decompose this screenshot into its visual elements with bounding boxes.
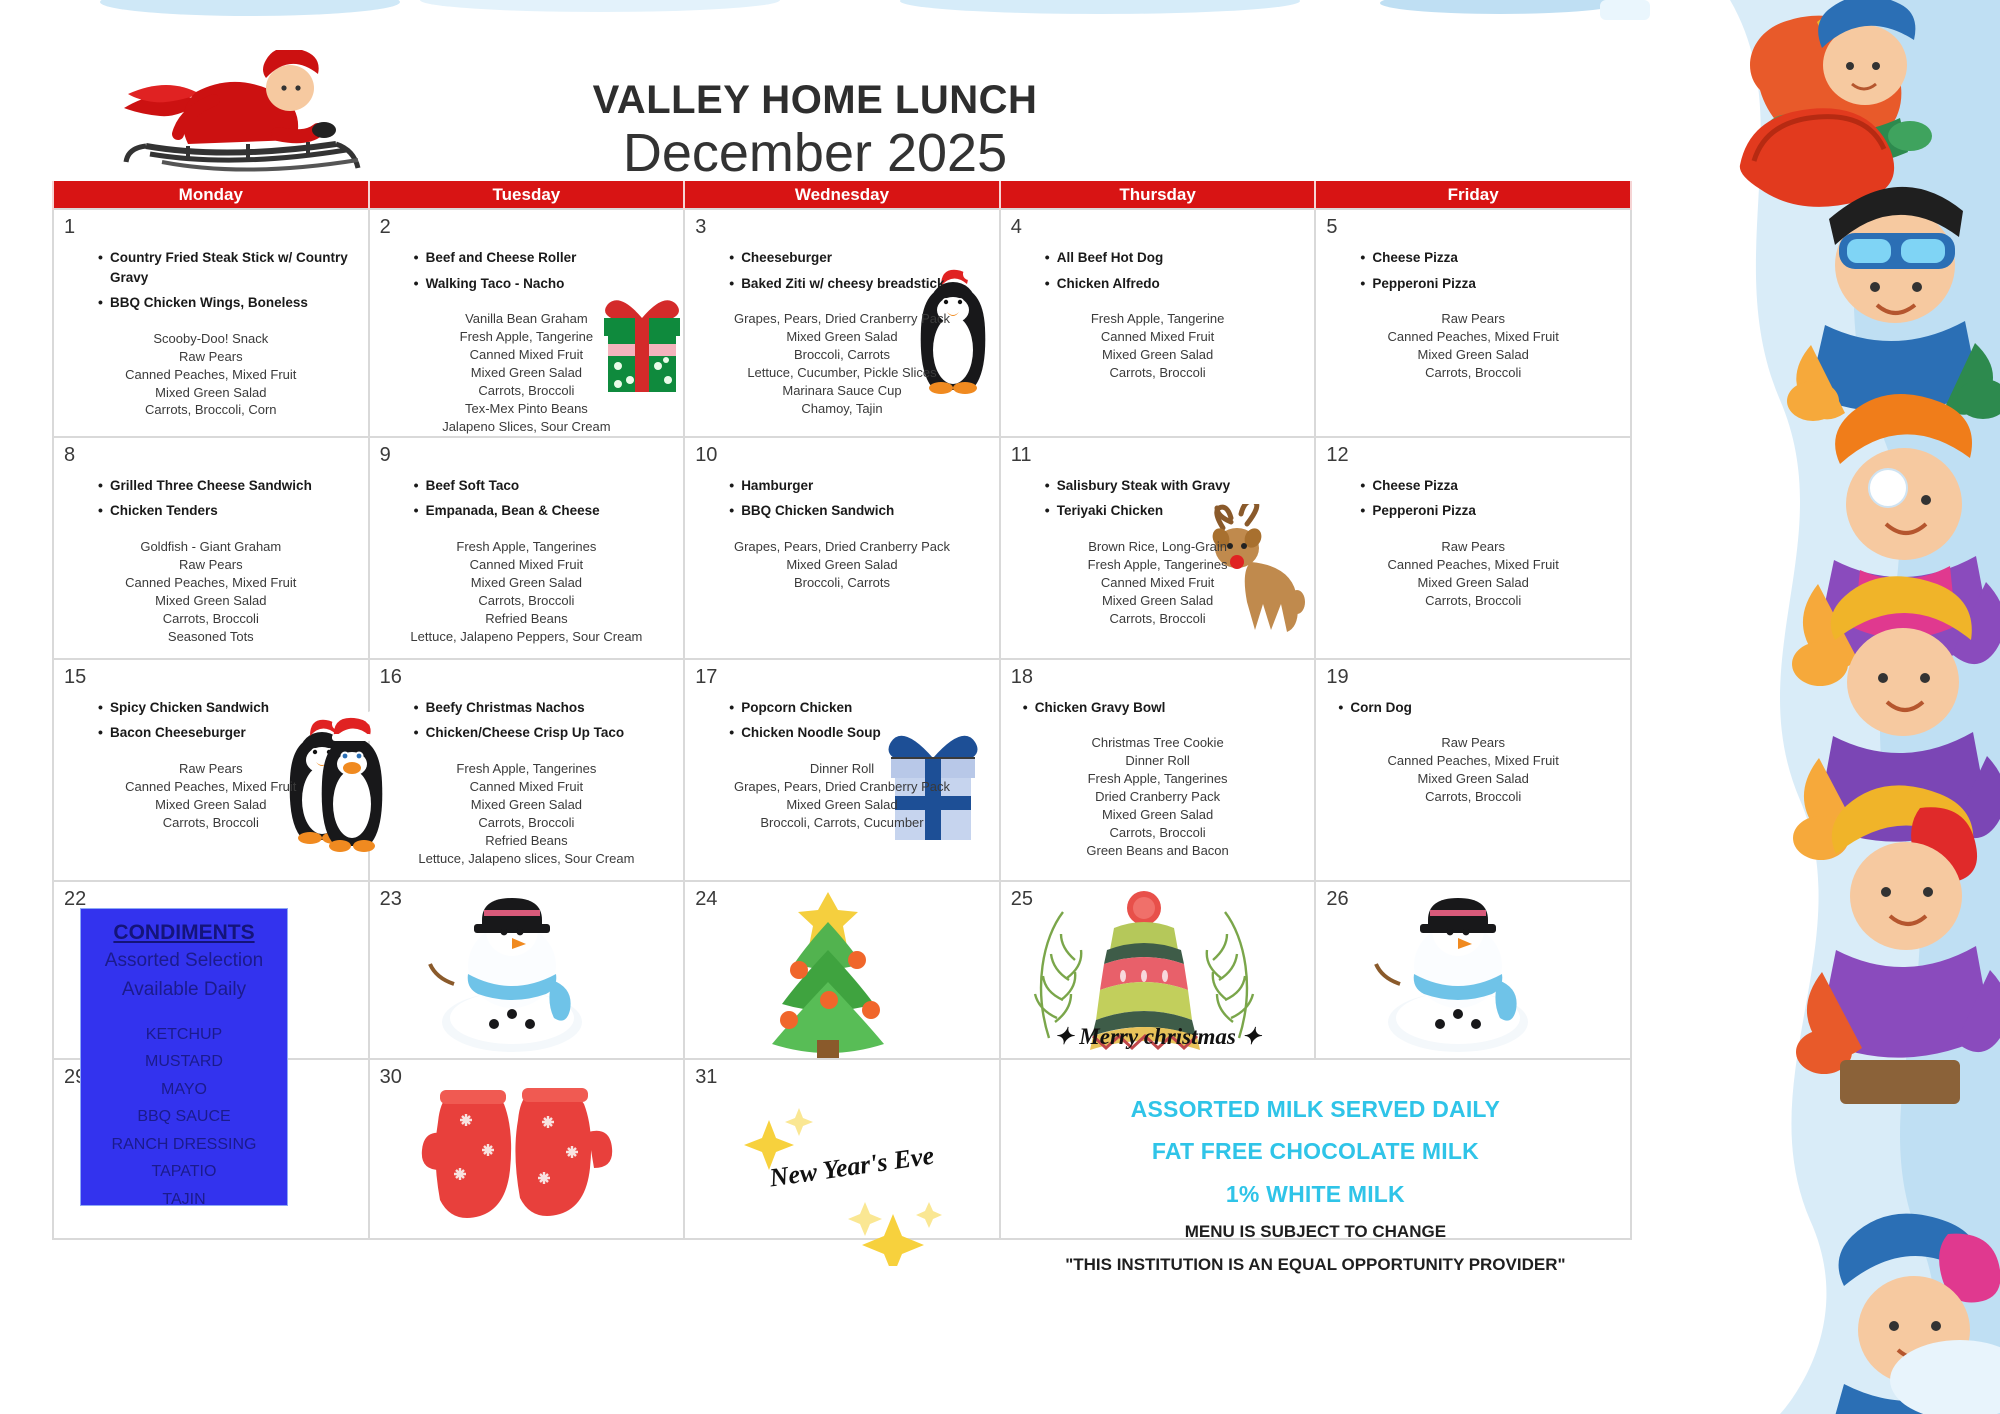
entree-item: Beef Soft Taco — [370, 473, 678, 499]
condiments-box: CONDIMENTS Assorted Selection Available … — [80, 908, 288, 1206]
side-dish-item: Broccoli, Carrots — [693, 574, 991, 592]
entree-item: Cheese Pizza — [1316, 473, 1624, 499]
calendar-day-cell: 11Salisbury Steak with GravyTeriyaki Chi… — [1000, 437, 1316, 659]
entree-list: Country Fried Steak Stick w/ Country Gra… — [54, 245, 368, 316]
side-dish-item: Carrots, Broccoli — [1324, 364, 1622, 382]
entree-list: Popcorn ChickenChicken Noodle Soup — [685, 695, 999, 746]
entree-item: All Beef Hot Dog — [1001, 245, 1309, 271]
page-header: VALLEY HOME LUNCH December 2025 — [0, 30, 1720, 185]
mittens-icon — [416, 1078, 616, 1228]
side-dish-item: Carrots, Broccoli — [1324, 592, 1622, 610]
side-dish-item: Scooby-Doo! Snack — [62, 330, 360, 348]
entree-list: Beef and Cheese RollerWalking Taco - Nac… — [370, 245, 684, 296]
weekday-header-row: Monday Tuesday Wednesday Thursday Friday — [53, 181, 1631, 209]
calendar-day-cell: 12Cheese PizzaPepperoni PizzaRaw PearsCa… — [1315, 437, 1631, 659]
entree-item: Cheese Pizza — [1316, 245, 1624, 271]
calendar-day-cell: 2Beef and Cheese RollerWalking Taco - Na… — [369, 209, 685, 437]
entree-item: Cheeseburger — [685, 245, 993, 271]
entree-item: Chicken/Cheese Crisp Up Taco — [370, 720, 678, 746]
side-dish-item: Carrots, Broccoli, Corn — [62, 401, 360, 419]
side-dish-item: Grapes, Pears, Dried Cranberry Pack — [693, 778, 991, 796]
side-dish-item: Mixed Green Salad — [378, 796, 676, 814]
side-dish-list: Raw PearsCanned Peaches, Mixed FruitMixe… — [1316, 538, 1630, 610]
side-dish-item: Raw Pears — [1324, 734, 1622, 752]
day-number: 18 — [1001, 660, 1315, 689]
side-dish-item: Fresh Apple, Tangerines — [378, 760, 676, 778]
side-dish-list: Raw PearsCanned Peaches, Mixed FruitMixe… — [1316, 310, 1630, 382]
entree-item: Pepperoni Pizza — [1316, 271, 1624, 297]
side-dish-item: Carrots, Broccoli — [1009, 824, 1307, 842]
calendar-day-cell: 24 — [684, 881, 1000, 1059]
side-dish-list: Christmas Tree CookieDinner RollFresh Ap… — [1001, 734, 1315, 860]
condiments-subtitle-1: Assorted Selection — [81, 946, 287, 975]
weekday-header-wednesday: Wednesday — [684, 181, 1000, 209]
side-dish-item: Canned Mixed Fruit — [1009, 328, 1307, 346]
side-dish-item: Canned Peaches, Mixed Fruit — [1324, 752, 1622, 770]
snowman-icon — [412, 896, 612, 1056]
calendar-day-cell: 3CheeseburgerBaked Ziti w/ cheesy breads… — [684, 209, 1000, 437]
side-dish-list: Fresh Apple, TangerinesCanned Mixed Frui… — [370, 538, 684, 646]
side-dish-item: Goldfish - Giant Graham — [62, 538, 360, 556]
entree-item: Empanada, Bean & Cheese — [370, 498, 678, 524]
entree-item: Beef and Cheese Roller — [370, 245, 678, 271]
side-dish-item: Raw Pears — [62, 556, 360, 574]
calendar-day-cell: 18Chicken Gravy BowlChristmas Tree Cooki… — [1000, 659, 1316, 881]
side-dish-item: Mixed Green Salad — [1009, 346, 1307, 364]
side-dish-item: Raw Pears — [1324, 310, 1622, 328]
side-dish-item: Canned Peaches, Mixed Fruit — [62, 366, 360, 384]
side-dish-item: Lettuce, Jalapeno slices, Sour Cream — [378, 850, 676, 868]
condiment-item: BBQ SAUCE — [81, 1103, 287, 1131]
top-snow-decoration — [0, 0, 2000, 30]
weekday-header-tuesday: Tuesday — [369, 181, 685, 209]
calendar-day-cell: 25 ✦ Merry christmas ✦ — [1000, 881, 1316, 1059]
day-number: 23 — [370, 882, 684, 911]
entree-item: Country Fried Steak Stick w/ Country Gra… — [54, 245, 362, 290]
side-dish-item: Fresh Apple, Tangerine — [1009, 310, 1307, 328]
calendar-day-cell: 9Beef Soft TacoEmpanada, Bean & CheeseFr… — [369, 437, 685, 659]
side-dish-item: Mixed Green Salad — [1009, 592, 1307, 610]
entree-item: BBQ Chicken Wings, Boneless — [54, 290, 362, 316]
calendar-day-cell: 5Cheese PizzaPepperoni PizzaRaw PearsCan… — [1315, 209, 1631, 437]
entree-item: Chicken Noodle Soup — [685, 720, 993, 746]
entree-item: Baked Ziti w/ cheesy breadstick — [685, 271, 993, 297]
entree-list: Spicy Chicken SandwichBacon Cheeseburger — [54, 695, 368, 746]
condiments-title: CONDIMENTS — [81, 919, 287, 946]
entree-item: Grilled Three Cheese Sandwich — [54, 473, 362, 499]
day-number: 9 — [370, 438, 684, 467]
day-number: 10 — [685, 438, 999, 467]
side-dish-list: Raw PearsCanned Peaches, Mixed FruitMixe… — [1316, 734, 1630, 806]
entree-list: Cheese PizzaPepperoni Pizza — [1316, 245, 1630, 296]
day-number: 4 — [1001, 210, 1315, 239]
side-dish-item: Carrots, Broccoli — [1009, 364, 1307, 382]
entree-item: Chicken Tenders — [54, 498, 362, 524]
side-dish-item: Mixed Green Salad — [62, 796, 360, 814]
entree-item: Chicken Alfredo — [1001, 271, 1309, 297]
calendar-day-cell: 23 — [369, 881, 685, 1059]
day-number: 11 — [1001, 438, 1315, 467]
side-dish-list: Grapes, Pears, Dried Cranberry PackMixed… — [685, 538, 999, 592]
side-dish-item: Mixed Green Salad — [693, 556, 991, 574]
condiments-subtitle-2: Available Daily — [81, 975, 287, 1004]
lunch-menu-calendar: Monday Tuesday Wednesday Thursday Friday… — [52, 181, 1632, 1240]
side-dish-item: Canned Peaches, Mixed Fruit — [1324, 556, 1622, 574]
entree-item: Walking Taco - Nacho — [370, 271, 678, 297]
entree-item: BBQ Chicken Sandwich — [685, 498, 993, 524]
page-title: VALLEY HOME LUNCH — [0, 78, 1630, 123]
condiment-item: TAPATIO — [81, 1158, 287, 1186]
side-dish-item: Canned Peaches, Mixed Fruit — [62, 778, 360, 796]
condiment-item: MUSTARD — [81, 1048, 287, 1076]
calendar-day-cell: 22 CONDIMENTS Assorted Selection Availab… — [53, 881, 369, 1059]
calendar-day-cell: 10HamburgerBBQ Chicken SandwichGrapes, P… — [684, 437, 1000, 659]
entree-list: Grilled Three Cheese SandwichChicken Ten… — [54, 473, 368, 524]
notice-milk-chocolate: FAT FREE CHOCOLATE MILK — [1001, 1130, 1630, 1173]
day-number: 30 — [370, 1060, 684, 1089]
entree-item: Salisbury Steak with Gravy — [1001, 473, 1309, 499]
entree-item: Spicy Chicken Sandwich — [54, 695, 362, 721]
side-dish-item: Mixed Green Salad — [62, 384, 360, 402]
christmas-tree-icon — [733, 888, 923, 1058]
side-dish-item: Broccoli, Carrots — [693, 346, 991, 364]
side-dish-item: Canned Mixed Fruit — [378, 778, 676, 796]
side-dish-item: Mixed Green Salad — [693, 796, 991, 814]
notice-milk-white: 1% WHITE MILK — [1001, 1173, 1630, 1216]
side-dish-item: Grapes, Pears, Dried Cranberry Pack — [693, 538, 991, 556]
calendar-day-cell: 8Grilled Three Cheese SandwichChicken Te… — [53, 437, 369, 659]
entree-item: Beefy Christmas Nachos — [370, 695, 678, 721]
entree-list: HamburgerBBQ Chicken Sandwich — [685, 473, 999, 524]
side-dish-item: Mixed Green Salad — [378, 364, 676, 382]
side-dish-list: Fresh Apple, TangerinesCanned Mixed Frui… — [370, 760, 684, 868]
side-dish-item: Canned Mixed Fruit — [378, 346, 676, 364]
entree-item: Pepperoni Pizza — [1316, 498, 1624, 524]
side-dish-item: Jalapeno Slices, Sour Cream — [378, 418, 676, 436]
day-number: 25 — [1001, 882, 1315, 911]
snowman-icon — [1358, 896, 1558, 1056]
calendar-day-cell: 26 — [1315, 881, 1631, 1059]
side-dish-list: Raw PearsCanned Peaches, Mixed FruitMixe… — [54, 760, 368, 832]
milk-notice-cell: ASSORTED MILK SERVED DAILY FAT FREE CHOC… — [1000, 1059, 1631, 1239]
entree-list: Beefy Christmas NachosChicken/Cheese Cri… — [370, 695, 684, 746]
calendar-day-cell: 4All Beef Hot DogChicken AlfredoFresh Ap… — [1000, 209, 1316, 437]
side-dish-item: Mixed Green Salad — [1324, 346, 1622, 364]
entree-item: Popcorn Chicken — [685, 695, 993, 721]
side-dish-item: Refried Beans — [378, 610, 676, 628]
side-dish-item: Canned Mixed Fruit — [378, 556, 676, 574]
calendar-day-cell: 19Corn DogRaw PearsCanned Peaches, Mixed… — [1315, 659, 1631, 881]
condiments-item-list: KETCHUPMUSTARDMAYOBBQ SAUCERANCH DRESSIN… — [81, 1021, 287, 1214]
condiment-item: RANCH DRESSING — [81, 1131, 287, 1159]
day-number: 31 — [685, 1060, 999, 1089]
day-number: 12 — [1316, 438, 1630, 467]
side-dish-list: Grapes, Pears, Dried Cranberry PackMixed… — [685, 310, 999, 418]
entree-item: Teriyaki Chicken — [1001, 498, 1309, 524]
entree-list: Salisbury Steak with GravyTeriyaki Chick… — [1001, 473, 1315, 524]
calendar-day-cell: 17Popcorn ChickenChicken Noodle SoupDinn… — [684, 659, 1000, 881]
day-number: 26 — [1316, 882, 1630, 911]
side-dish-list: Vanilla Bean GrahamFresh Apple, Tangerin… — [370, 310, 684, 436]
day-number: 19 — [1316, 660, 1630, 689]
day-number: 22 — [54, 882, 368, 911]
calendar-day-cell: 1Country Fried Steak Stick w/ Country Gr… — [53, 209, 369, 437]
calendar-week-row: 22 CONDIMENTS Assorted Selection Availab… — [53, 881, 1631, 1059]
side-dish-item: Grapes, Pears, Dried Cranberry Pack — [693, 310, 991, 328]
side-dish-item: Carrots, Broccoli — [378, 382, 676, 400]
side-dish-item: Raw Pears — [62, 348, 360, 366]
day-number: 17 — [685, 660, 999, 689]
weekday-header-thursday: Thursday — [1000, 181, 1316, 209]
side-dish-item: Fresh Apple, Tangerines — [1009, 556, 1307, 574]
merry-christmas-caption: ✦ Merry christmas ✦ — [1001, 1024, 1315, 1050]
calendar-week-row: 1Country Fried Steak Stick w/ Country Gr… — [53, 209, 1631, 437]
side-dish-item: Refried Beans — [378, 832, 676, 850]
entree-item: Corn Dog — [1316, 695, 1624, 721]
side-dish-item: Seasoned Tots — [62, 628, 360, 646]
page-subtitle: December 2025 — [0, 122, 1630, 184]
side-dish-item: Fresh Apple, Tangerines — [378, 538, 676, 556]
winter-kids-decoration — [1710, 0, 2000, 1414]
side-dish-item: Christmas Tree Cookie — [1009, 734, 1307, 752]
calendar-day-cell: 16Beefy Christmas NachosChicken/Cheese C… — [369, 659, 685, 881]
calendar-week-row: 2930 31 — [53, 1059, 1631, 1239]
side-dish-list: Brown Rice, Long-GrainFresh Apple, Tange… — [1001, 538, 1315, 628]
entree-list: Cheese PizzaPepperoni Pizza — [1316, 473, 1630, 524]
notice-subject-to-change: MENU IS SUBJECT TO CHANGE — [1001, 1215, 1630, 1248]
side-dish-item: Lettuce, Cucumber, Pickle Slices — [693, 364, 991, 382]
side-dish-item: Brown Rice, Long-Grain — [1009, 538, 1307, 556]
calendar-week-row: 8Grilled Three Cheese SandwichChicken Te… — [53, 437, 1631, 659]
side-dish-item: Fresh Apple, Tangerines — [1009, 770, 1307, 788]
side-dish-item: Marinara Sauce Cup — [693, 382, 991, 400]
side-dish-item: Mixed Green Salad — [1324, 574, 1622, 592]
side-dish-item: Mixed Green Salad — [62, 592, 360, 610]
day-number: 5 — [1316, 210, 1630, 239]
side-dish-item: Fresh Apple, Tangerine — [378, 328, 676, 346]
entree-item: Chicken Gravy Bowl — [1001, 695, 1309, 721]
side-dish-item: Mixed Green Salad — [693, 328, 991, 346]
weekday-header-monday: Monday — [53, 181, 369, 209]
entree-list: All Beef Hot DogChicken Alfredo — [1001, 245, 1315, 296]
new-years-eve-icon: New Year's Eve — [733, 1116, 963, 1206]
side-dish-item: Canned Peaches, Mixed Fruit — [1324, 328, 1622, 346]
notice-equal-opportunity: "THIS INSTITUTION IS AN EQUAL OPPORTUNIT… — [1001, 1248, 1630, 1281]
side-dish-item: Tex-Mex Pinto Beans — [378, 400, 676, 418]
condiment-item: TAJIN — [81, 1186, 287, 1214]
condiment-item: KETCHUP — [81, 1021, 287, 1049]
side-dish-item: Carrots, Broccoli — [378, 814, 676, 832]
side-dish-item: Raw Pears — [1324, 538, 1622, 556]
calendar-day-cell: 30 — [369, 1059, 685, 1239]
condiment-item: MAYO — [81, 1076, 287, 1104]
side-dish-item: Mixed Green Salad — [378, 574, 676, 592]
side-dish-item: Chamoy, Tajin — [693, 400, 991, 418]
side-dish-item: Raw Pears — [62, 760, 360, 778]
side-dish-item: Carrots, Broccoli — [1009, 610, 1307, 628]
entree-list: Corn Dog — [1316, 695, 1630, 721]
side-dish-item: Dried Cranberry Pack — [1009, 788, 1307, 806]
side-dish-list: Scooby-Doo! SnackRaw PearsCanned Peaches… — [54, 330, 368, 420]
side-dish-item: Canned Peaches, Mixed Fruit — [62, 574, 360, 592]
entree-item: Bacon Cheeseburger — [54, 720, 362, 746]
calendar-day-cell: 31 New Year's Eve — [684, 1059, 1000, 1239]
day-number: 15 — [54, 660, 368, 689]
entree-item: Hamburger — [685, 473, 993, 499]
milk-notice: ASSORTED MILK SERVED DAILY FAT FREE CHOC… — [1001, 1060, 1630, 1238]
entree-list: CheeseburgerBaked Ziti w/ cheesy breadst… — [685, 245, 999, 296]
side-dish-item: Canned Mixed Fruit — [1009, 574, 1307, 592]
side-dish-item: Lettuce, Jalapeno Peppers, Sour Cream — [378, 628, 676, 646]
day-number: 8 — [54, 438, 368, 467]
entree-list: Beef Soft TacoEmpanada, Bean & Cheese — [370, 473, 684, 524]
side-dish-list: Fresh Apple, TangerineCanned Mixed Fruit… — [1001, 310, 1315, 382]
side-dish-list: Dinner RollGrapes, Pears, Dried Cranberr… — [685, 760, 999, 832]
side-dish-list: Goldfish - Giant GrahamRaw PearsCanned P… — [54, 538, 368, 646]
side-dish-item: Carrots, Broccoli — [62, 814, 360, 832]
entree-list: Chicken Gravy Bowl — [1001, 695, 1315, 721]
side-dish-item: Carrots, Broccoli — [378, 592, 676, 610]
side-dish-item: Carrots, Broccoli — [1324, 788, 1622, 806]
side-dish-item: Green Beans and Bacon — [1009, 842, 1307, 860]
calendar-week-row: 15Spicy Chicken SandwichBacon Cheeseburg… — [53, 659, 1631, 881]
side-dish-item: Carrots, Broccoli — [62, 610, 360, 628]
day-number: 1 — [54, 210, 368, 239]
side-dish-item: Mixed Green Salad — [1009, 806, 1307, 824]
side-dish-item: Dinner Roll — [1009, 752, 1307, 770]
side-dish-item: Broccoli, Carrots, Cucumber — [693, 814, 991, 832]
day-number: 3 — [685, 210, 999, 239]
side-dish-item: Vanilla Bean Graham — [378, 310, 676, 328]
weekday-header-friday: Friday — [1315, 181, 1631, 209]
notice-milk-assorted: ASSORTED MILK SERVED DAILY — [1001, 1088, 1630, 1131]
side-dish-item: Mixed Green Salad — [1324, 770, 1622, 788]
day-number: 16 — [370, 660, 684, 689]
day-number: 2 — [370, 210, 684, 239]
side-dish-item: Dinner Roll — [693, 760, 991, 778]
day-number: 24 — [685, 882, 999, 911]
